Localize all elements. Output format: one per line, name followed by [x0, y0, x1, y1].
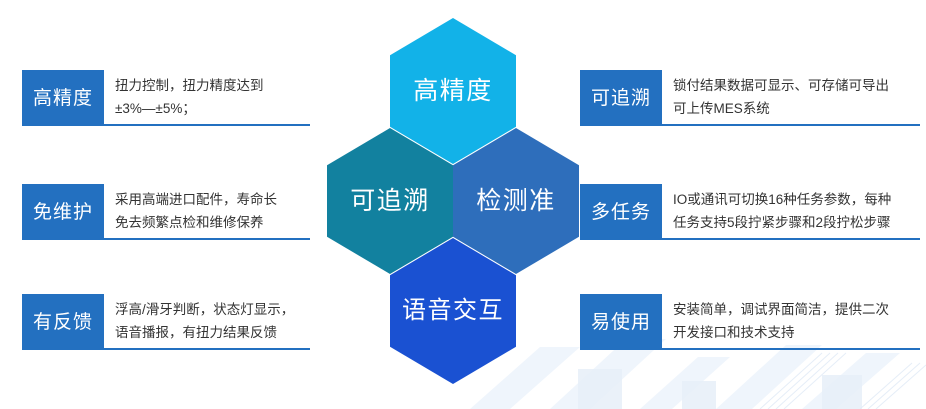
- feature-description: 采用高端进口配件，寿命长 免去频繁点检和维修保养: [104, 184, 310, 240]
- feature-description: IO或通讯可切换16种任务参数，每种 任务支持5段拧紧步骤和2段拧松步骤: [662, 184, 920, 240]
- hexagon-cluster: 高精度 可追溯 检测准 语音交互: [318, 18, 588, 378]
- hexagon-label: 语音交互: [402, 299, 504, 323]
- feature-underline: [22, 348, 310, 350]
- feature-description-line: ±3%—±5%；: [115, 97, 310, 120]
- feature-description-line: 浮高/滑牙判断，状态灯显示，: [115, 298, 310, 321]
- feature-description-line: 开发接口和技术支持: [673, 321, 920, 344]
- feature-badge: 多任务: [580, 184, 662, 240]
- feature-description-line: 语音播报，有扭力结果反馈: [115, 321, 310, 344]
- feature-badge-label: 易使用: [591, 313, 651, 332]
- feature-badge: 易使用: [580, 294, 662, 350]
- hexagon-label: 高精度: [413, 79, 493, 104]
- feature-underline: [22, 124, 310, 126]
- feature-description-line: 锁付结果数据可显示、可存储可导出: [673, 74, 920, 97]
- feature-block-maintenance-free: 免维护 采用高端进口配件，寿命长 免去频繁点检和维修保养: [22, 184, 310, 240]
- feature-description: 浮高/滑牙判断，状态灯显示， 语音播报，有扭力结果反馈: [104, 294, 310, 350]
- feature-badge-label: 可追溯: [591, 89, 651, 108]
- feature-underline: [22, 238, 310, 240]
- feature-badge-label: 多任务: [591, 203, 651, 222]
- feature-block-traceable: 可追溯 锁付结果数据可显示、可存储可导出 可上传MES系统: [580, 70, 920, 126]
- feature-description-line: 采用高端进口配件，寿命长: [115, 188, 310, 211]
- feature-badge: 高精度: [22, 70, 104, 126]
- feature-description-line: IO或通讯可切换16种任务参数，每种: [673, 188, 920, 211]
- feature-description: 扭力控制，扭力精度达到 ±3%—±5%；: [104, 70, 310, 126]
- hexagon-label: 检测准: [476, 189, 556, 214]
- feature-description-line: 安装简单，调试界面简洁，提供二次: [673, 298, 920, 321]
- feature-underline: [580, 238, 920, 240]
- feature-underline: [580, 348, 920, 350]
- feature-block-feedback: 有反馈 浮高/滑牙判断，状态灯显示， 语音播报，有扭力结果反馈: [22, 294, 310, 350]
- feature-badge: 有反馈: [22, 294, 104, 350]
- feature-badge-label: 高精度: [33, 89, 93, 108]
- feature-block-multitask: 多任务 IO或通讯可切换16种任务参数，每种 任务支持5段拧紧步骤和2段拧松步骤: [580, 184, 920, 240]
- feature-underline: [580, 124, 920, 126]
- feature-description-line: 任务支持5段拧紧步骤和2段拧松步骤: [673, 211, 920, 234]
- feature-description-line: 可上传MES系统: [673, 97, 920, 120]
- feature-description-line: 扭力控制，扭力精度达到: [115, 74, 310, 97]
- feature-badge-label: 有反馈: [33, 313, 93, 332]
- feature-badge: 可追溯: [580, 70, 662, 126]
- feature-block-easy-to-use: 易使用 安装简单，调试界面简洁，提供二次 开发接口和技术支持: [580, 294, 920, 350]
- feature-description-line: 免去频繁点检和维修保养: [115, 211, 310, 234]
- feature-description: 安装简单，调试界面简洁，提供二次 开发接口和技术支持: [662, 294, 920, 350]
- feature-badge: 免维护: [22, 184, 104, 240]
- feature-block-high-precision: 高精度 扭力控制，扭力精度达到 ±3%—±5%；: [22, 70, 310, 126]
- hexagon-label: 可追溯: [350, 189, 430, 214]
- feature-description: 锁付结果数据可显示、可存储可导出 可上传MES系统: [662, 70, 920, 126]
- feature-badge-label: 免维护: [33, 203, 93, 222]
